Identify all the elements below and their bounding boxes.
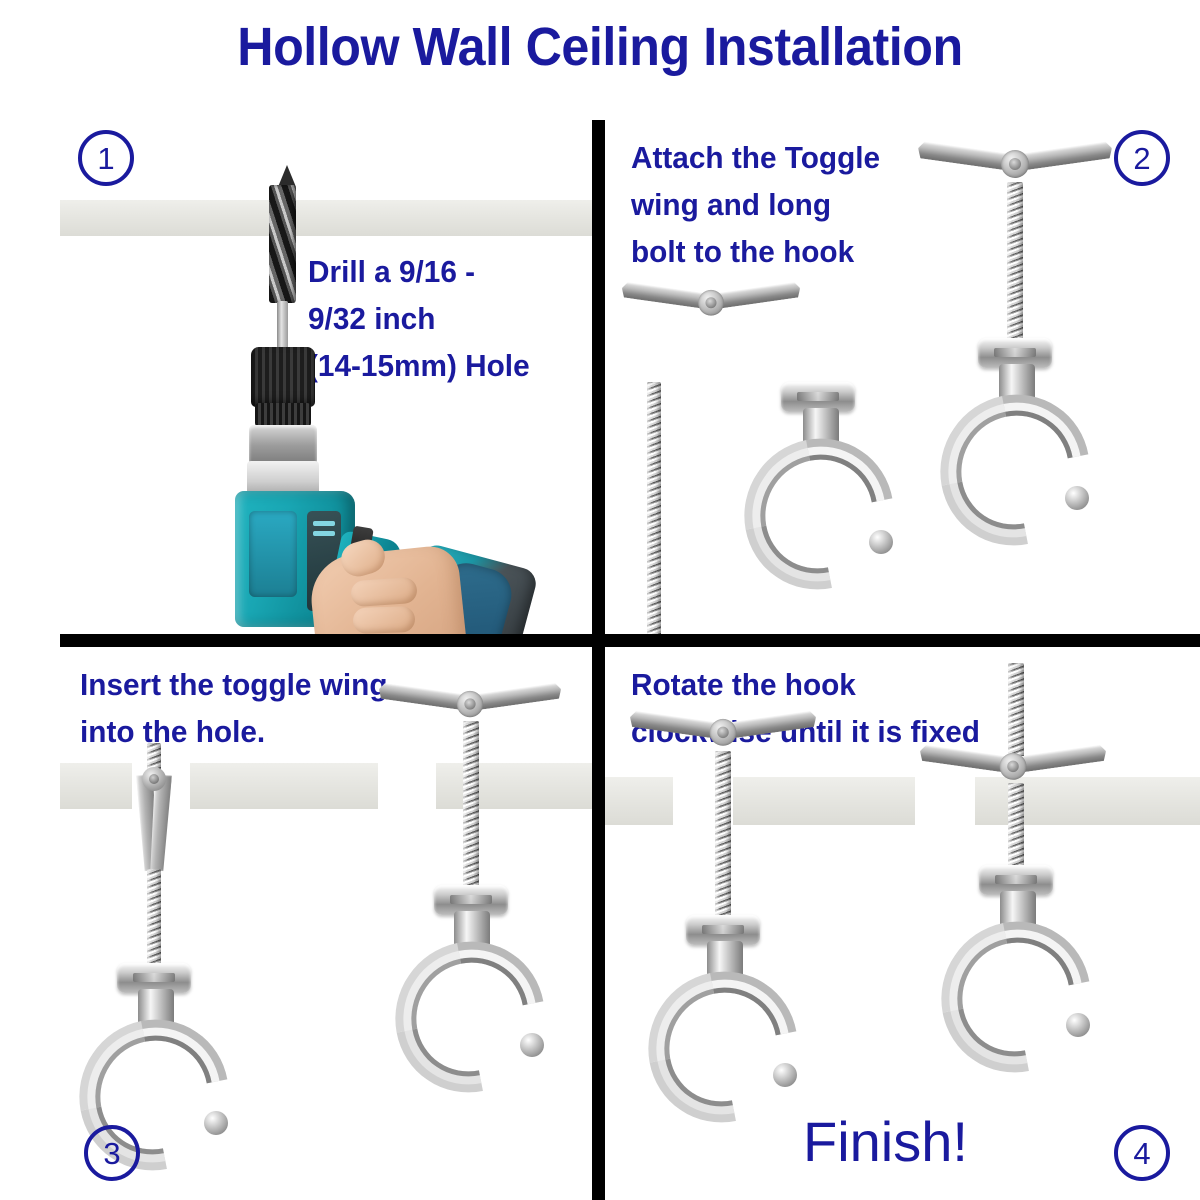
hook-curve-shadow <box>388 935 551 1099</box>
drill-body-stripe-bottom <box>313 531 335 536</box>
caption-step-2: Attach the Toggle wing and long bolt to … <box>631 134 919 275</box>
tightened-bolt-upper <box>1008 663 1024 759</box>
drill-bit-tip-icon <box>278 165 296 187</box>
page-title: Hollow Wall Ceiling Installation <box>42 16 1158 78</box>
toggle-wing-blade-right <box>1018 141 1113 171</box>
panel-step-4: Rotate the hook clockwise until it is fi… <box>605 647 1200 1200</box>
rotate-hook-left <box>643 941 803 1131</box>
toggle-wing-hub <box>457 691 483 717</box>
tightened-bolt-lower <box>1008 783 1024 871</box>
rotate-bolt-shaft-left <box>715 751 731 921</box>
drill-body-stripe-top <box>313 521 335 526</box>
toggle-wing-hub <box>142 767 166 791</box>
hook-tip <box>204 1111 228 1135</box>
hook-curve-shadow <box>641 965 804 1129</box>
hook-curve-shadow <box>934 915 1097 1079</box>
insert-assembly-opened <box>338 689 592 1139</box>
panel-step-3: Insert the toggle wing into the hole. <box>60 647 592 1200</box>
panel-step-1: 1 Drill a 9/16 - 9/32 inch (14-15mm) Hol… <box>60 120 592 634</box>
rotate-assembly-left <box>611 717 871 1167</box>
drill-bit-shank <box>277 301 288 353</box>
assembled-hook <box>935 364 1095 554</box>
panel-step-2: 2 Attach the Toggle wing and long bolt t… <box>605 120 1200 634</box>
drill-chuck-ring <box>255 403 311 427</box>
loose-hook <box>739 408 899 598</box>
rotate-assembly-right <box>897 663 1177 1163</box>
drill-body-vent <box>249 511 297 597</box>
folded-bolt-shaft <box>147 869 161 969</box>
step-badge-4: 4 <box>1114 1125 1170 1181</box>
toggle-wing-hub <box>1001 150 1029 178</box>
loose-toggle-wing <box>619 288 803 336</box>
drill-chuck <box>251 347 315 407</box>
toggle-wing-blade-right <box>714 282 802 310</box>
infographic-page: Hollow Wall Ceiling Installation 1 Drill… <box>0 0 1200 1200</box>
tightened-hook <box>936 891 1096 1081</box>
drill-clutch-collar <box>249 425 317 465</box>
toggle-wing-hub <box>698 290 724 316</box>
toggle-wing-hub <box>1000 753 1027 780</box>
folded-toggle-wing <box>131 765 177 873</box>
assembled-toggle-bolt-hook <box>895 148 1175 628</box>
insert-assembly-folded <box>72 743 322 1173</box>
hook-tip <box>1066 1013 1090 1037</box>
hook-curve-shadow <box>933 388 1096 552</box>
step-badge-1: 1 <box>78 130 134 186</box>
panel-divider-vertical <box>592 120 605 1200</box>
drill-gearbox <box>247 461 319 495</box>
hand-finger-2 <box>353 606 416 634</box>
hook-tip <box>520 1033 544 1057</box>
toggle-wing-blade-right <box>1016 744 1108 773</box>
assembled-bolt-shaft <box>1007 182 1023 344</box>
toggle-wing-hub <box>710 719 737 746</box>
finish-label: Finish! <box>803 1109 968 1174</box>
hand-finger-1 <box>350 577 418 608</box>
toggle-wing-blade-left <box>917 141 1012 171</box>
panel-divider-horizontal <box>60 634 1200 647</box>
insert-hook-right <box>390 911 550 1101</box>
drill-bit-flute <box>269 185 296 303</box>
toggle-wing-blade-left <box>919 744 1011 773</box>
toggle-wing-blade-left <box>621 282 709 310</box>
hook-tip <box>773 1063 797 1087</box>
hook-tip <box>869 530 893 554</box>
hook-curve-shadow <box>737 432 900 596</box>
hook-tip <box>1065 486 1089 510</box>
loose-threaded-bolt <box>647 382 661 634</box>
toggle-wing-blade-right <box>473 682 563 710</box>
step-badge-3: 3 <box>84 1125 140 1181</box>
opened-bolt-shaft <box>463 721 479 891</box>
drill-illustration <box>155 155 575 625</box>
